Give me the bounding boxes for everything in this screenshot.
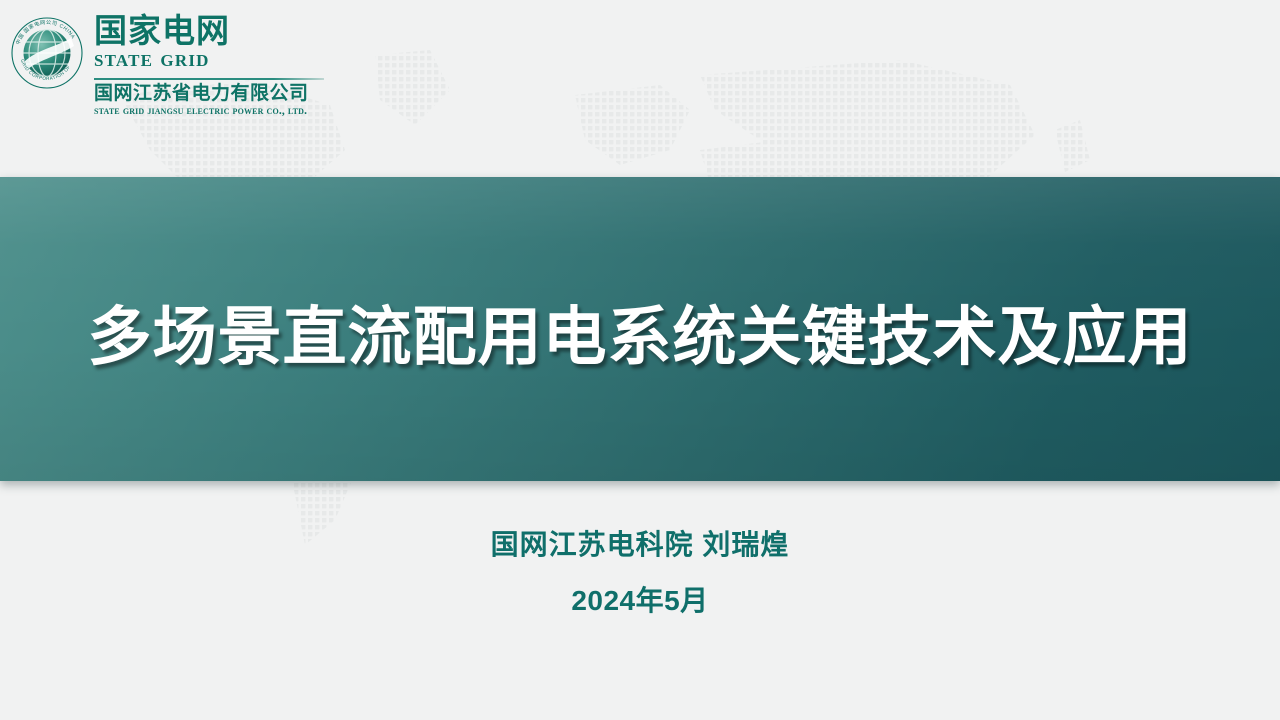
- presentation-date: 2024年5月: [0, 584, 1280, 618]
- state-grid-logo: 中国 国家电网公司 CHINA GRID CORPORATION OF 国家电网…: [10, 10, 324, 119]
- state-grid-globe-emblem-icon: 中国 国家电网公司 CHINA GRID CORPORATION OF: [10, 16, 84, 90]
- subsidiary-name-en: State Grid Jiangsu Electric Power Co., L…: [94, 105, 324, 118]
- brand-name-en: State Grid: [94, 47, 324, 72]
- brand-name-cn: 国家电网: [94, 14, 324, 48]
- title-banner: 多场景直流配用电系统关键技术及应用: [0, 177, 1280, 481]
- page-title: 多场景直流配用电系统关键技术及应用: [0, 177, 1280, 481]
- presentation-slide: 中国 国家电网公司 CHINA GRID CORPORATION OF 国家电网…: [0, 0, 1280, 720]
- logo-divider: [94, 78, 324, 80]
- presenter-name: 国网江苏电科院 刘瑞煌: [0, 528, 1280, 562]
- subsidiary-name-cn: 国网江苏省电力有限公司: [94, 84, 324, 105]
- slide-footer: 国网江苏电科院 刘瑞煌 2024年5月: [0, 528, 1280, 617]
